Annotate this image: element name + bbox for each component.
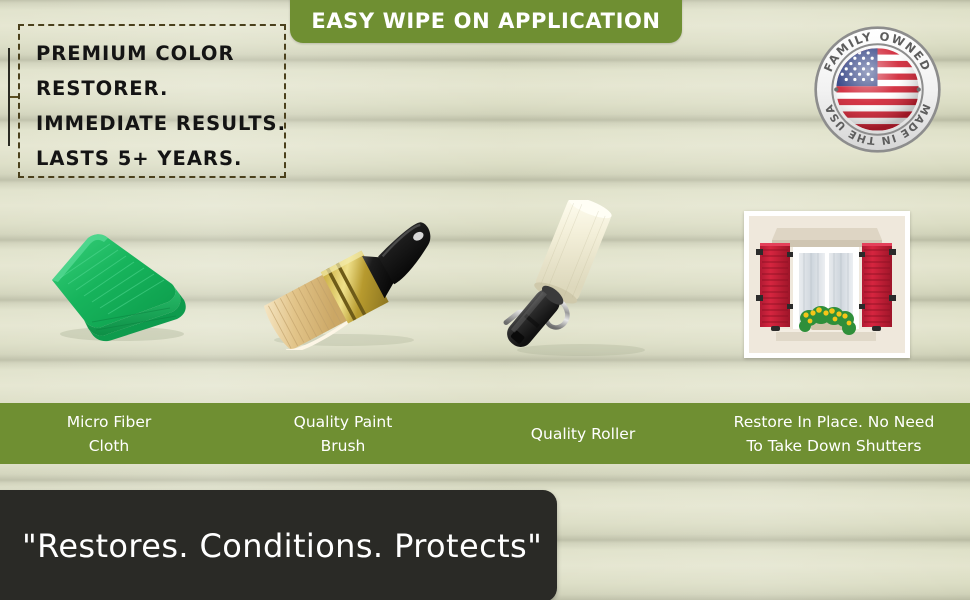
feature-line-4: LASTS 5+ YEARS.: [36, 141, 284, 176]
microfiber-cloth-icon: [44, 222, 194, 347]
caption-band: Micro Fiber Cloth Quality Paint Brush Qu…: [0, 403, 970, 464]
window-shutters-photo-icon: [744, 211, 910, 358]
feature-line-2: RESTORER.: [36, 71, 284, 106]
caption-2-line-1: Quality Roller: [531, 422, 635, 446]
caption-0-line-1: Micro Fiber: [67, 410, 152, 434]
paint-roller-icon: [489, 200, 669, 360]
tagline-box: "Restores. Conditions. Protects": [0, 490, 557, 600]
top-ribbon-text: EASY WIPE ON APPLICATION: [311, 6, 660, 33]
caption-0-line-2: Cloth: [89, 434, 130, 458]
caption-3-line-2: To Take Down Shutters: [746, 434, 921, 458]
usa-flag-badge-icon: FAMILY OWNED MADE IN THE USA: [811, 23, 944, 156]
caption-1-line-2: Brush: [321, 434, 366, 458]
feature-box: PREMIUM COLOR RESTORER. IMMEDIATE RESULT…: [18, 24, 286, 178]
promotional-banner: EASY WIPE ON APPLICATION PREMIUM COLOR R…: [0, 0, 970, 600]
caption-quality-roller: Quality Roller: [468, 403, 698, 464]
caption-restore-in-place: Restore In Place. No Need To Take Down S…: [698, 403, 970, 464]
top-ribbon: EASY WIPE ON APPLICATION: [290, 0, 682, 43]
caption-quality-paint-brush: Quality Paint Brush: [218, 403, 468, 464]
caption-3-line-1: Restore In Place. No Need: [734, 410, 935, 434]
feature-line-1: PREMIUM COLOR: [36, 36, 284, 71]
caption-micro-fiber-cloth: Micro Fiber Cloth: [0, 403, 218, 464]
paint-brush-icon: [258, 218, 446, 350]
feature-line-3: IMMEDIATE RESULTS.: [36, 106, 284, 141]
feature-box-accent-tick: [8, 48, 10, 146]
tagline-text: "Restores. Conditions. Protects": [0, 527, 542, 565]
caption-1-line-1: Quality Paint: [294, 410, 393, 434]
